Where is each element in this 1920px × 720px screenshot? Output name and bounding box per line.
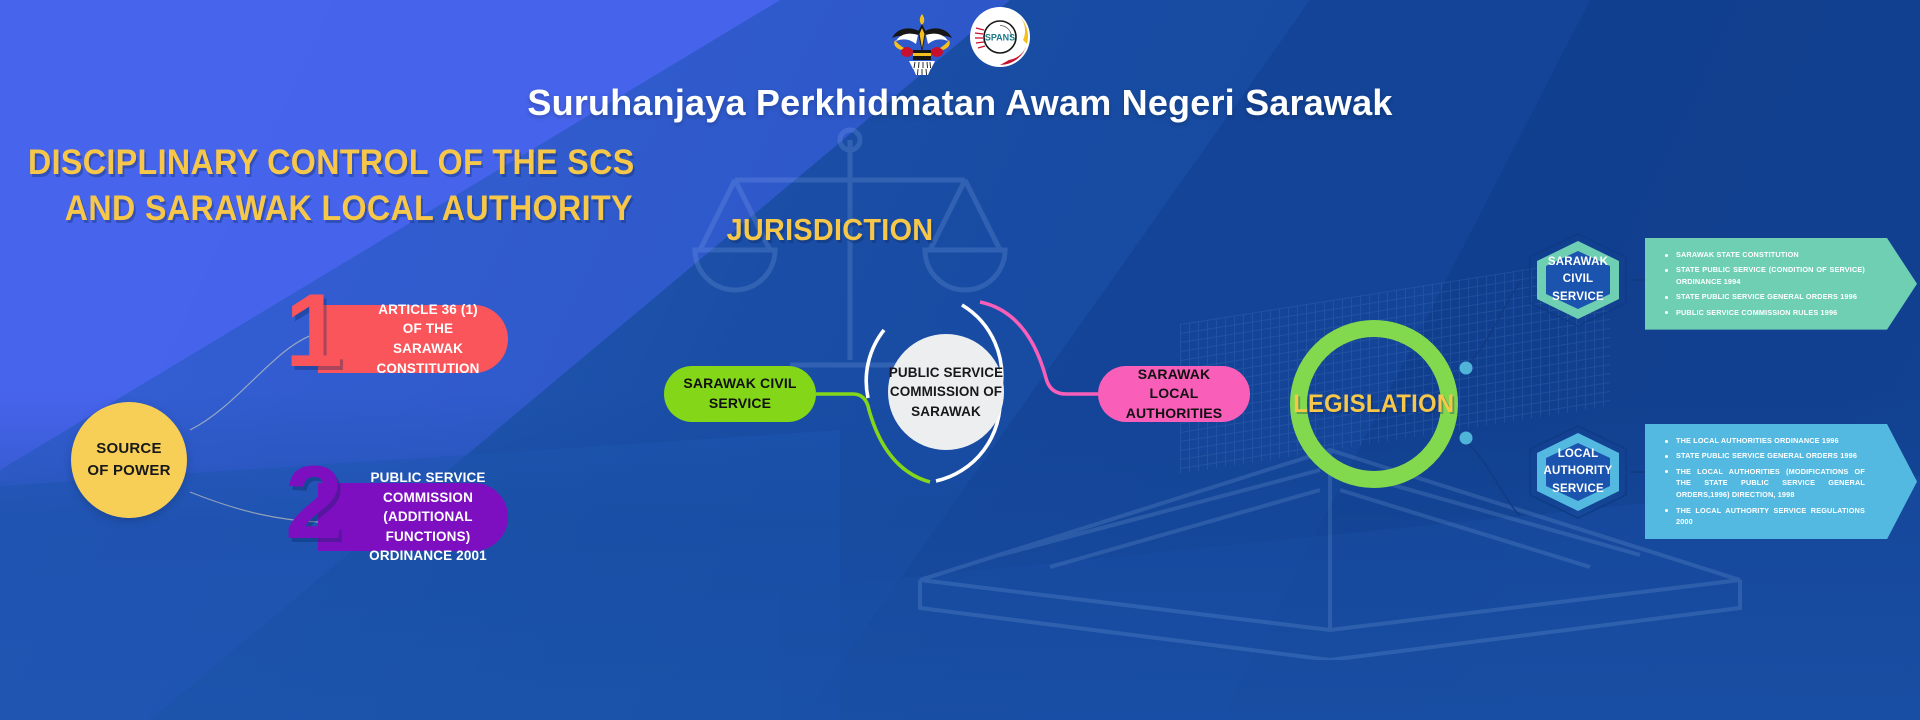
- hexagon-bottom-line-3: SERVICE: [1544, 481, 1613, 498]
- hexagon-sarawak-civil-service[interactable]: SARAWAK CIVIL SERVICE: [1526, 232, 1630, 328]
- legislation-list-civil-service: SARAWAK STATE CONSTITUTION STATE PUBLIC …: [1645, 238, 1917, 330]
- source-of-power-line-1: SOURCE: [87, 438, 170, 460]
- list-item: THE LOCAL AUTHORITIES (MODIFICATIONS OF …: [1663, 466, 1865, 501]
- sarawak-state-crest-logo: [889, 6, 955, 76]
- spans-logo-text: SPANS: [985, 33, 1015, 43]
- header: SPANS Suruhanjaya Perkhidmatan Awam Nege…: [0, 0, 1920, 124]
- source-of-power-node: SOURCE OF POWER: [71, 402, 187, 518]
- legislation-label: LEGISLATION: [1293, 390, 1454, 419]
- hexagon-bottom-line-1: LOCAL: [1544, 446, 1613, 463]
- legislation-node[interactable]: LEGISLATION: [1290, 320, 1458, 488]
- hexagon-top-label: SARAWAK CIVIL SERVICE: [1548, 254, 1608, 305]
- hexagon-local-authority-service[interactable]: LOCAL AUTHORITY SERVICE: [1526, 424, 1630, 520]
- hexagon-top-line-1: SARAWAK: [1548, 254, 1608, 271]
- list-item: THE LOCAL AUTHORITY SERVICE REGULATIONS …: [1663, 505, 1865, 529]
- hexagon-bottom-line-2: AUTHORITY: [1544, 463, 1613, 480]
- list-item: STATE PUBLIC SERVICE GENERAL ORDERS 1996: [1663, 291, 1865, 303]
- legislation-list-local-authority: THE LOCAL AUTHORITIES ORDINANCE 1996 STA…: [1645, 424, 1917, 539]
- list-item: SARAWAK STATE CONSTITUTION: [1663, 249, 1865, 261]
- hub-center-node[interactable]: PUBLIC SERVICE COMMISSION OF SARAWAK: [888, 334, 1004, 450]
- card-2-number: 2: [285, 451, 343, 555]
- source-card-1[interactable]: 1 ARTICLE 36 (1) OF THE SARAWAK CONSTITU…: [318, 305, 508, 373]
- legislation-list-civil-service-items: SARAWAK STATE CONSTITUTION STATE PUBLIC …: [1663, 249, 1865, 319]
- jurisdiction-hub: PUBLIC SERVICE COMMISSION OF SARAWAK: [866, 312, 1026, 472]
- source-of-power-line-2: OF POWER: [87, 460, 170, 482]
- list-item: PUBLIC SERVICE COMMISSION RULES 1996: [1663, 307, 1865, 319]
- infographic-canvas: SPANS Suruhanjaya Perkhidmatan Awam Nege…: [0, 0, 1920, 720]
- list-item: STATE PUBLIC SERVICE GENERAL ORDERS 1996: [1663, 450, 1865, 462]
- pill-sarawak-civil-service[interactable]: SARAWAK CIVIL SERVICE: [664, 366, 816, 422]
- headline-line-1: DISCIPLINARY CONTROL OF THE SCS: [28, 140, 598, 186]
- headline-line-2: AND SARAWAK LOCAL AUTHORITY: [28, 186, 598, 232]
- card-1-text: ARTICLE 36 (1) OF THE SARAWAK CONSTITUTI…: [368, 300, 488, 378]
- legislation-list-local-authority-items: THE LOCAL AUTHORITIES ORDINANCE 1996 STA…: [1663, 435, 1865, 528]
- logo-row: SPANS: [0, 0, 1920, 80]
- list-item: STATE PUBLIC SERVICE (CONDITION OF SERVI…: [1663, 264, 1865, 288]
- jurisdiction-label: JURISDICTION: [691, 212, 970, 248]
- page-title: Suruhanjaya Perkhidmatan Awam Negeri Sar…: [0, 82, 1920, 124]
- hexagon-bottom-label: LOCAL AUTHORITY SERVICE: [1544, 446, 1613, 497]
- headline: DISCIPLINARY CONTROL OF THE SCS AND SARA…: [28, 140, 598, 232]
- card-1-number: 1: [285, 279, 343, 383]
- list-item: THE LOCAL AUTHORITIES ORDINANCE 1996: [1663, 435, 1865, 447]
- card-2-text: PUBLIC SERVICE COMMISSION (ADDITIONAL FU…: [368, 468, 488, 566]
- hexagon-top-line-2: CIVIL: [1548, 271, 1608, 288]
- spans-logo: SPANS: [969, 6, 1031, 68]
- pill-sarawak-local-authorities[interactable]: SARAWAK LOCAL AUTHORITIES: [1098, 366, 1250, 422]
- source-card-2[interactable]: 2 PUBLIC SERVICE COMMISSION (ADDITIONAL …: [318, 483, 508, 551]
- hexagon-top-line-3: SERVICE: [1548, 289, 1608, 306]
